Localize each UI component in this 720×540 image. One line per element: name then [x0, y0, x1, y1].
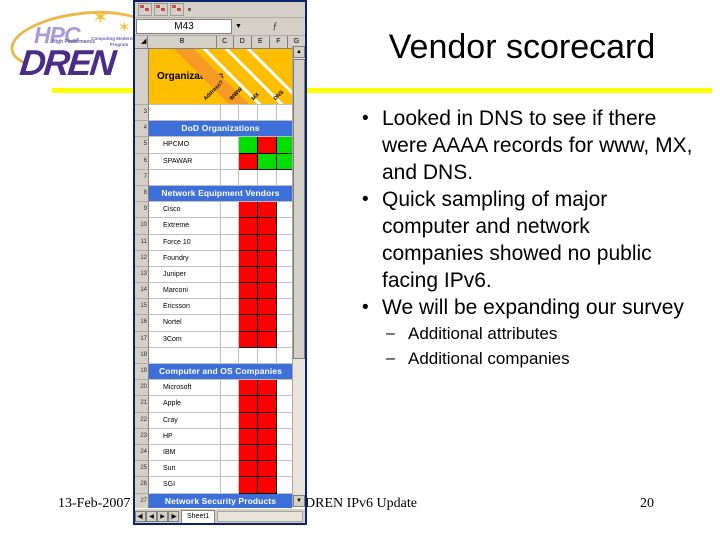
footer-date: 13-Feb-2007 — [58, 496, 130, 512]
vendor-name-cell[interactable]: HPCMO — [149, 137, 221, 153]
row-header[interactable]: 4 — [135, 121, 149, 137]
row-header[interactable]: 8 — [135, 186, 149, 202]
row-cells: 3Com — [149, 332, 295, 348]
table-row[interactable]: 173Com — [135, 332, 292, 348]
table-row[interactable]: 22Cray — [135, 413, 292, 429]
first-sheet-button[interactable]: ◀| — [135, 511, 146, 522]
spacer-cell[interactable] — [221, 332, 239, 348]
status-cell-red[interactable] — [258, 299, 277, 315]
column-header-f[interactable]: F — [270, 36, 288, 48]
sheet-tab-bar[interactable]: ◀| ◀ ▶ |▶ Sheet1 — [135, 508, 305, 523]
table-row[interactable]: 20Microsoft — [135, 380, 292, 396]
footer-center-text: DREN IPv6 Update — [305, 496, 417, 512]
row-cells: Nortel — [149, 315, 295, 331]
row-cells — [149, 348, 295, 364]
embedded-spreadsheet[interactable]: M43 ▼ ƒ ◢ B C D E F G Organizations — [133, 0, 307, 525]
spacer-cell[interactable] — [221, 202, 239, 218]
column-header-c[interactable]: C — [217, 36, 234, 48]
status-cell-white[interactable] — [258, 170, 277, 186]
spacer-cell[interactable] — [221, 348, 239, 364]
slide-canvas: ✶ ✶ HPC High Performance Computing Moder… — [0, 0, 720, 540]
spacer-cell[interactable] — [221, 154, 239, 170]
logo-star-icon: ✶ — [92, 8, 109, 28]
vendor-name-cell[interactable]: Sun — [149, 461, 221, 477]
prev-sheet-button[interactable]: ◀ — [146, 511, 157, 522]
status-cell-red[interactable] — [258, 235, 277, 251]
column-header-d[interactable]: D — [234, 36, 252, 48]
section-banner: Network Equipment Vendors — [149, 186, 292, 202]
column-headers[interactable]: ◢ B C D E F G — [135, 36, 305, 49]
row-cells: Sun — [149, 461, 295, 477]
row-header[interactable]: 26 — [135, 477, 149, 493]
row-header[interactable]: 11 — [135, 235, 149, 251]
row-header[interactable]: 3 — [135, 105, 149, 121]
status-cell-red[interactable] — [258, 429, 277, 445]
table-row[interactable]: 4DoD Organizations — [135, 121, 292, 137]
spacer-cell[interactable] — [221, 380, 239, 396]
sub-bullet-item: Additional attributes — [356, 321, 696, 346]
table-row[interactable]: 6SPAWAR — [135, 154, 292, 170]
row-header[interactable]: 16 — [135, 315, 149, 331]
table-row[interactable]: 26SGI — [135, 477, 292, 493]
status-cell-red[interactable] — [239, 445, 258, 461]
status-cell-red[interactable] — [239, 154, 258, 170]
vendor-name-cell[interactable]: IBM — [149, 445, 221, 461]
table-row[interactable]: 7 — [135, 170, 292, 186]
status-cell-red[interactable] — [258, 251, 277, 267]
row-header[interactable]: 13 — [135, 267, 149, 283]
column-header-e[interactable]: E — [252, 36, 270, 48]
table-row[interactable]: 14Marconi — [135, 283, 292, 299]
status-cell-red[interactable] — [258, 283, 277, 299]
status-cell-red[interactable] — [239, 429, 258, 445]
status-cell-red[interactable] — [258, 380, 277, 396]
row-cells: Foundry — [149, 251, 295, 267]
table-row[interactable]: 9Cisco — [135, 202, 292, 218]
status-cell-red[interactable] — [258, 445, 277, 461]
row-cells — [149, 105, 295, 121]
table-row[interactable]: 23HP — [135, 429, 292, 445]
row-header[interactable]: 23 — [135, 429, 149, 445]
vendor-name-cell[interactable] — [149, 170, 221, 186]
status-cell-red[interactable] — [258, 332, 277, 348]
row-cells: Juniper — [149, 267, 295, 283]
status-cell-red[interactable] — [239, 202, 258, 218]
status-cell-red[interactable] — [239, 251, 258, 267]
row-cells: HPCMO — [149, 137, 295, 153]
status-cell-red[interactable] — [258, 413, 277, 429]
status-cell-red[interactable] — [239, 267, 258, 283]
row-header[interactable]: 21 — [135, 396, 149, 412]
status-cell-red[interactable] — [239, 380, 258, 396]
row-header[interactable]: 6 — [135, 154, 149, 170]
bullet-item: We will be expanding our survey — [356, 294, 696, 321]
spacer-cell[interactable] — [221, 396, 239, 412]
vendor-name-cell[interactable]: Nortel — [149, 315, 221, 331]
row-header[interactable]: 17 — [135, 332, 149, 348]
row-cells: Microsoft — [149, 380, 295, 396]
section-banner: DoD Organizations — [149, 121, 292, 137]
spacer-cell[interactable] — [221, 105, 239, 121]
row-header[interactable]: 22 — [135, 413, 149, 429]
dren-logo: ✶ ✶ HPC High Performance Computing Moder… — [6, 6, 152, 82]
spacer-cell[interactable] — [221, 315, 239, 331]
row-header[interactable] — [135, 49, 149, 105]
page-title: Vendor scorecard — [330, 28, 714, 67]
row-cells: Force 10 — [149, 235, 295, 251]
spreadsheet-grid[interactable]: Organizations Address? WWW MX DNS 34DoD … — [135, 49, 292, 525]
toolbar-button-2[interactable] — [154, 3, 168, 16]
organizations-header-cell: Organizations Address? WWW MX DNS — [149, 49, 292, 105]
vendor-name-cell[interactable]: Apple — [149, 396, 221, 412]
row-header[interactable]: 14 — [135, 283, 149, 299]
status-cell-red[interactable] — [239, 315, 258, 331]
status-cell-red[interactable] — [239, 299, 258, 315]
table-row[interactable]: 8Network Equipment Vendors — [135, 186, 292, 202]
table-row[interactable]: 5HPCMO — [135, 137, 292, 153]
vendor-name-cell[interactable]: SGI — [149, 477, 221, 493]
row-cells: Extreme — [149, 218, 295, 234]
vendor-name-cell[interactable]: Ericsson — [149, 299, 221, 315]
vendor-name-cell[interactable]: Cray — [149, 413, 221, 429]
table-row[interactable]: 25Sun — [135, 461, 292, 477]
row-header[interactable]: 5 — [135, 137, 149, 153]
spacer-cell[interactable] — [221, 429, 239, 445]
spacer-cell[interactable] — [221, 299, 239, 315]
select-all-corner[interactable]: ◢ — [135, 36, 148, 48]
status-cell-red[interactable] — [258, 315, 277, 331]
spacer-cell[interactable] — [221, 445, 239, 461]
spacer-cell[interactable] — [221, 461, 239, 477]
vendor-name-cell[interactable] — [149, 105, 221, 121]
row-cells: HP — [149, 429, 295, 445]
bullet-item: Looked in DNS to see if there were AAAA … — [356, 105, 696, 186]
row-cells: SGI — [149, 477, 295, 493]
spacer-cell[interactable] — [221, 251, 239, 267]
row-header[interactable]: 19 — [135, 364, 149, 380]
row-header[interactable]: 25 — [135, 461, 149, 477]
row-cells — [149, 170, 295, 186]
scroll-up-icon[interactable]: ▲ — [293, 46, 305, 58]
spreadsheet-rows: 34DoD Organizations5HPCMO6SPAWAR78Networ… — [135, 105, 292, 525]
row-header[interactable]: 24 — [135, 445, 149, 461]
row-header[interactable]: 20 — [135, 380, 149, 396]
row-cells: IBM — [149, 445, 295, 461]
status-cell-white[interactable] — [239, 170, 258, 186]
status-cell-red[interactable] — [258, 396, 277, 412]
row-header[interactable]: 9 — [135, 202, 149, 218]
table-row[interactable]: 12Foundry — [135, 251, 292, 267]
status-cell-red[interactable] — [258, 461, 277, 477]
table-row[interactable]: 11Force 10 — [135, 235, 292, 251]
scroll-down-icon[interactable]: ▼ — [293, 495, 305, 507]
sheet-tab-sheet1[interactable]: Sheet1 — [181, 510, 215, 523]
status-cell-white[interactable] — [239, 348, 258, 364]
table-row[interactable]: 21Apple — [135, 396, 292, 412]
vendor-name-cell[interactable]: Extreme — [149, 218, 221, 234]
table-row[interactable]: 19Computer and OS Companies — [135, 364, 292, 380]
status-cell-red[interactable] — [239, 332, 258, 348]
logo-star-icon: ✶ — [118, 20, 131, 35]
row-header[interactable]: 7 — [135, 170, 149, 186]
next-sheet-button[interactable]: ▶ — [157, 511, 168, 522]
status-cell-red[interactable] — [258, 477, 277, 493]
name-box[interactable]: M43 — [136, 19, 232, 34]
status-cell-white[interactable] — [258, 348, 277, 364]
toolbar-button-1[interactable] — [138, 3, 152, 16]
sub-bullet-item: Additional companies — [356, 346, 696, 371]
vendor-name-cell[interactable]: 3Com — [149, 332, 221, 348]
status-cell-green[interactable] — [239, 137, 258, 153]
status-cell-red[interactable] — [258, 202, 277, 218]
horizontal-scrollbar[interactable] — [217, 511, 303, 522]
status-cell-red[interactable] — [239, 235, 258, 251]
scorecard-header-block: Organizations Address? WWW MX DNS — [135, 49, 292, 105]
spacer-cell[interactable] — [221, 218, 239, 234]
bullet-item: Quick sampling of major computer and net… — [356, 186, 696, 294]
last-sheet-button[interactable]: |▶ — [168, 511, 179, 522]
vendor-name-cell[interactable]: HP — [149, 429, 221, 445]
vendor-name-cell[interactable]: Foundry — [149, 251, 221, 267]
toolbar-button-3[interactable] — [170, 3, 184, 16]
row-cells: Apple — [149, 396, 295, 412]
vendor-name-cell[interactable]: Force 10 — [149, 235, 221, 251]
row-cells: SPAWAR — [149, 154, 295, 170]
status-cell-red[interactable] — [239, 396, 258, 412]
vendor-name-cell[interactable]: Microsoft — [149, 380, 221, 396]
page-number: 20 — [640, 496, 654, 512]
status-cell-red[interactable] — [258, 137, 277, 153]
spacer-cell[interactable] — [221, 413, 239, 429]
chevron-down-icon[interactable]: ▼ — [232, 19, 245, 34]
toolbar-overflow-icon[interactable] — [188, 8, 191, 11]
status-cell-red[interactable] — [239, 477, 258, 493]
bullet-list: Looked in DNS to see if there were AAAA … — [356, 105, 696, 371]
spacer-cell[interactable] — [221, 137, 239, 153]
vendor-name-cell[interactable]: Juniper — [149, 267, 221, 283]
vendor-name-cell[interactable]: Cisco — [149, 202, 221, 218]
section-banner: Computer and OS Companies — [149, 364, 292, 380]
excel-toolbar[interactable] — [135, 2, 305, 18]
status-cell-red[interactable] — [239, 218, 258, 234]
table-row[interactable]: 16Nortel — [135, 315, 292, 331]
table-row[interactable]: 3 — [135, 105, 292, 121]
spreadsheet-grid-viewport[interactable]: Organizations Address? WWW MX DNS 34DoD … — [135, 49, 305, 525]
status-cell-white[interactable] — [239, 105, 258, 121]
status-cell-white[interactable] — [258, 105, 277, 121]
rotated-header-mx: MX — [251, 92, 261, 102]
table-row[interactable]: 24IBM — [135, 445, 292, 461]
spacer-cell[interactable] — [221, 283, 239, 299]
spacer-cell[interactable] — [221, 477, 239, 493]
status-cell-red[interactable] — [239, 283, 258, 299]
vertical-scroll-thumb[interactable] — [293, 59, 305, 359]
row-header[interactable]: 15 — [135, 299, 149, 315]
status-cell-red[interactable] — [258, 267, 277, 283]
row-header[interactable]: 18 — [135, 348, 149, 364]
row-cells: Marconi — [149, 283, 295, 299]
function-icon[interactable]: ƒ — [245, 21, 305, 32]
table-row[interactable]: 10Extreme — [135, 218, 292, 234]
vendor-name-cell[interactable]: Marconi — [149, 283, 221, 299]
status-cell-red[interactable] — [239, 461, 258, 477]
formula-bar[interactable]: M43 ▼ ƒ — [135, 18, 305, 36]
vendor-name-cell[interactable] — [149, 348, 221, 364]
row-cells: Cray — [149, 413, 295, 429]
row-header[interactable]: 10 — [135, 218, 149, 234]
column-header-b[interactable]: B — [148, 36, 216, 48]
row-cells: Ericsson — [149, 299, 295, 315]
vertical-scrollbar[interactable]: ▲ ▼ — [292, 46, 305, 507]
status-cell-red[interactable] — [258, 218, 277, 234]
spacer-cell[interactable] — [221, 170, 239, 186]
spacer-cell[interactable] — [221, 235, 239, 251]
table-row[interactable]: 18 — [135, 348, 292, 364]
row-header[interactable]: 12 — [135, 251, 149, 267]
status-cell-green[interactable] — [258, 154, 277, 170]
table-row[interactable]: 13Juniper — [135, 267, 292, 283]
status-cell-red[interactable] — [239, 413, 258, 429]
logo-dren-text: DREN — [18, 42, 116, 84]
table-row[interactable]: 15Ericsson — [135, 299, 292, 315]
vendor-name-cell[interactable]: SPAWAR — [149, 154, 221, 170]
spacer-cell[interactable] — [221, 267, 239, 283]
row-cells: Cisco — [149, 202, 295, 218]
